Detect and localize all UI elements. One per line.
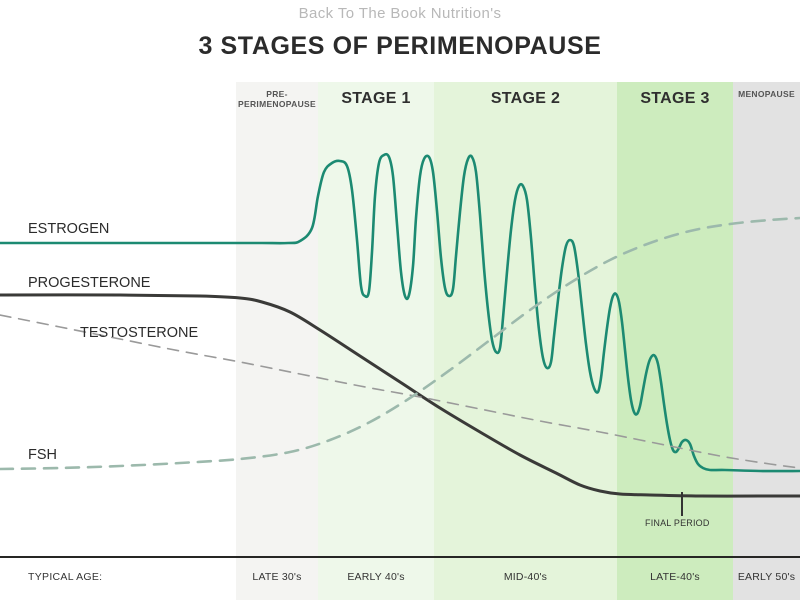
series-label-fsh: FSH bbox=[28, 447, 57, 463]
age-label-stage1: EARLY 40's bbox=[318, 571, 434, 583]
age-label-stage3: LATE-40's bbox=[617, 571, 733, 583]
hormone-curves bbox=[0, 82, 800, 556]
final-period-label: FINAL PERIOD bbox=[645, 518, 710, 528]
final-period-tick bbox=[681, 492, 683, 516]
series-label-testosterone: TESTOSTERONE bbox=[80, 325, 198, 341]
page-title: 3 STAGES OF PERIMENOPAUSE bbox=[0, 32, 800, 61]
series-label-estrogen: ESTROGEN bbox=[28, 221, 109, 237]
curve-estrogen bbox=[0, 154, 800, 471]
brand-subtitle: Back To The Book Nutrition's bbox=[0, 5, 800, 22]
age-label-menopause: EARLY 50's bbox=[733, 571, 800, 583]
age-cell-pre: LATE 30's bbox=[236, 558, 318, 600]
age-row: LATE 30'sEARLY 40'sMID-40'sLATE-40'sEARL… bbox=[0, 558, 800, 600]
age-label-pre: LATE 30's bbox=[236, 571, 318, 583]
age-label-stage2: MID-40's bbox=[434, 571, 617, 583]
age-cell-stage3: LATE-40's bbox=[617, 558, 733, 600]
age-cell-menopause: EARLY 50's bbox=[733, 558, 800, 600]
series-label-progesterone: PROGESTERONE bbox=[28, 275, 150, 291]
perimenopause-infographic: Back To The Book Nutrition's 3 STAGES OF… bbox=[0, 0, 800, 600]
age-cell-stage1: EARLY 40's bbox=[318, 558, 434, 600]
age-cell-stage2: MID-40's bbox=[434, 558, 617, 600]
chart-plot-area: PRE-PERIMENOPAUSESTAGE 1STAGE 2STAGE 3ME… bbox=[0, 82, 800, 556]
